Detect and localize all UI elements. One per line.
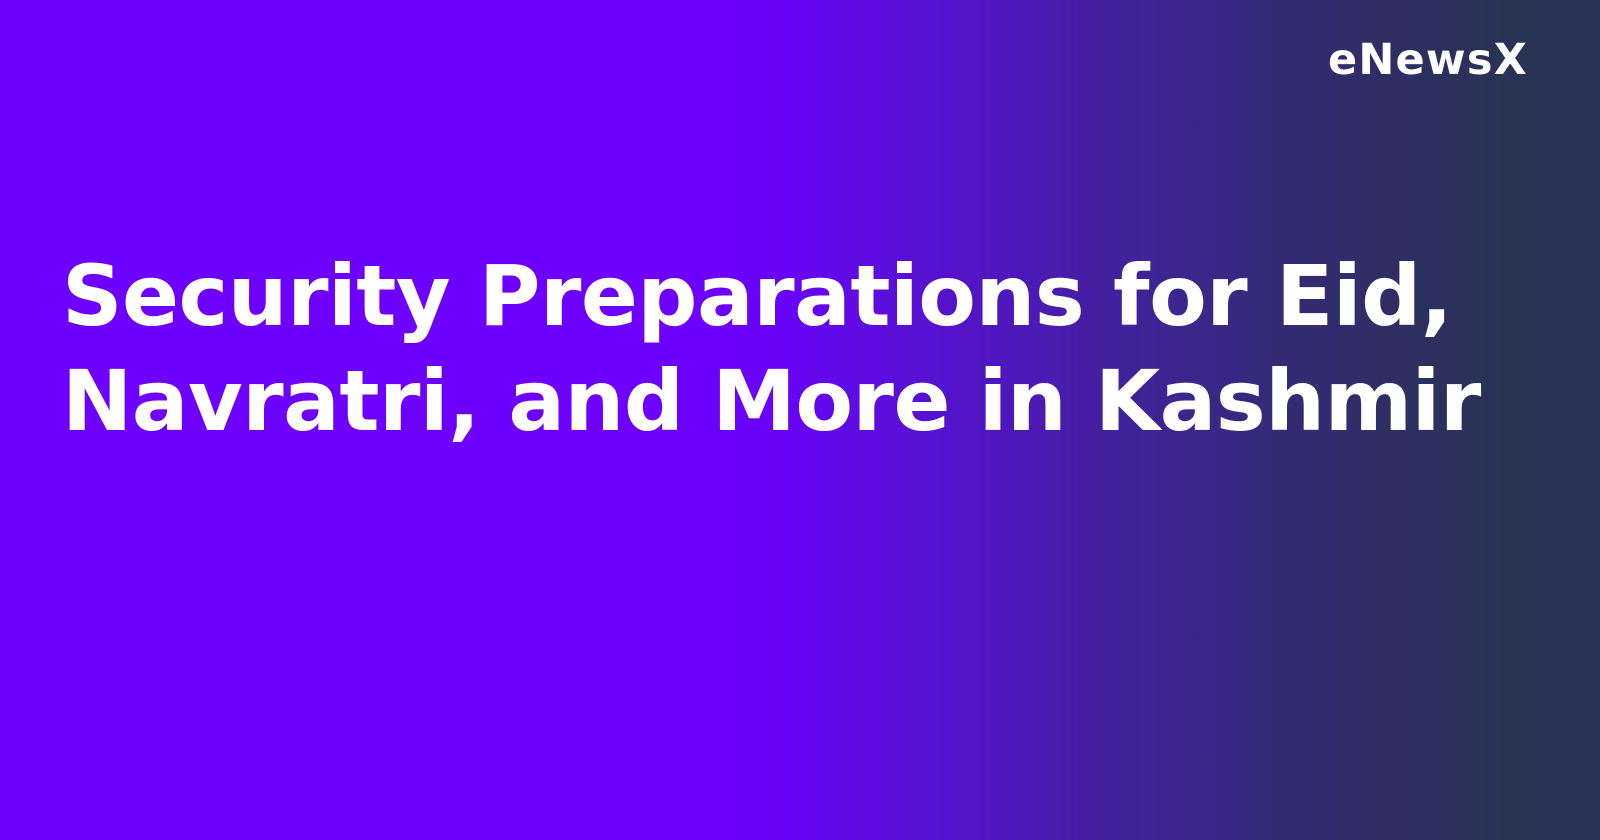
article-headline: Security Preparations for Eid, Navratri,… — [62, 244, 1482, 454]
brand-header: eNewsX — [0, 0, 1600, 120]
brand-logo-enewsx[interactable]: eNewsX — [1328, 39, 1528, 82]
headline-block: Security Preparations for Eid, Navratri,… — [62, 244, 1482, 454]
news-banner-card: eNewsX Security Preparations for Eid, Na… — [0, 0, 1600, 840]
